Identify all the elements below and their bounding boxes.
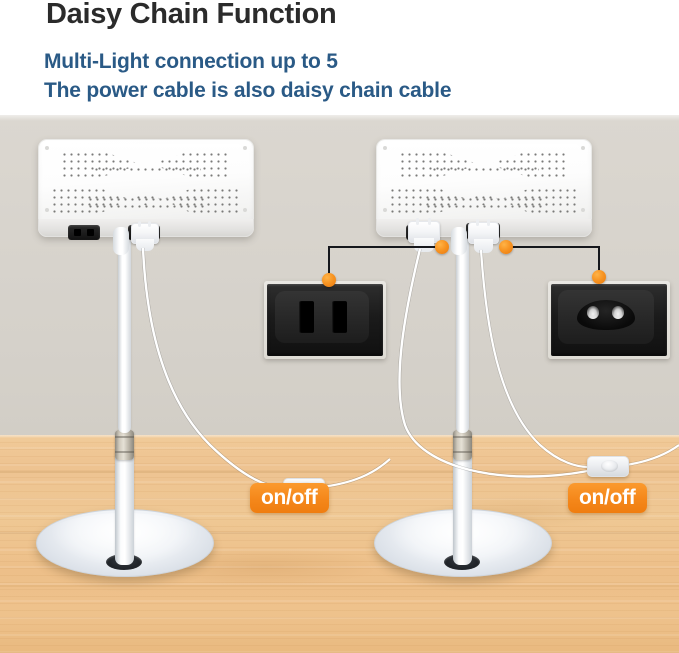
callout-socket-c7-figure-eight [548,281,670,359]
panel-corner-screw [45,146,49,150]
vent-hole-row [425,196,545,211]
socket-slot-line [299,301,314,333]
pole-upper-section [456,237,469,433]
callout-socket-nema-flat [264,281,386,359]
socket-recess-plate [275,291,369,343]
c7-contact-hole [587,306,599,319]
header-block: Daisy Chain Function Multi-Light connect… [0,0,679,115]
port-slot [87,229,94,236]
subtitle-line-2: The power cable is also daisy chain cabl… [44,79,451,103]
plug-prong [487,219,490,226]
plug-prong [138,221,141,227]
switch-right[interactable] [587,456,629,477]
c7-cutout-shape [577,300,635,330]
wood-grain-line [0,585,679,587]
callout-leader-horizontal [505,246,600,248]
panel-corner-screw [243,146,247,150]
lamp-left-output-plug[interactable] [131,223,159,244]
socket-slot-line [332,301,347,333]
plug-strain-relief [136,239,154,251]
lamp-right-output-plug[interactable] [468,222,499,244]
lamp-right-input-plug[interactable] [408,221,440,243]
pole-lower-section [453,447,472,565]
product-scene: on/off on/off [0,115,679,653]
vent-hole-row [93,166,201,174]
product-infographic: Daisy Chain Function Multi-Light connect… [0,0,679,653]
callout-marker-dot-socket [322,273,336,287]
pole-upper-section [118,237,131,433]
panel-mount-stem [451,227,467,255]
plug-prong [428,218,431,225]
lamp-left-power-input-port[interactable] [68,225,100,240]
c7-contact-hole [612,306,624,319]
badge-onoff-left: on/off [250,483,329,513]
pole-lower-section [115,447,134,565]
plug-strain-relief [414,238,434,252]
callout-marker-dot-socket [592,270,606,284]
wood-grain-line [0,471,679,473]
panel-corner-screw [383,208,387,212]
collar-ring [115,451,134,453]
socket-face [267,284,383,356]
socket-face [551,284,667,356]
callout-leader-horizontal [328,246,441,248]
pole-height-adjust-collar[interactable] [115,430,134,460]
callout-marker-dot-lamp-port [499,240,513,254]
subtitle-line-1: Multi-Light connection up to 5 [44,50,338,74]
badge-onoff-right: on/off [568,483,647,513]
plug-strain-relief [474,239,493,253]
callout-marker-dot-lamp-port [435,240,449,254]
vent-hole-row [87,196,207,211]
panel-corner-screw [45,208,49,212]
plug-prong [476,219,479,226]
collar-ring [453,451,472,453]
panel-mount-stem [113,227,129,255]
plug-prong [148,221,151,227]
table-edge [0,435,679,438]
page-title: Daisy Chain Function [46,0,336,31]
panel-corner-screw [243,208,247,212]
vent-hole-row [431,166,539,174]
rocker-button[interactable] [601,460,618,472]
collar-ring [453,436,472,438]
panel-corner-screw [581,208,585,212]
panel-corner-screw [581,146,585,150]
collar-ring [115,436,134,438]
pole-height-adjust-collar[interactable] [453,430,472,460]
port-slot [74,229,81,236]
plug-prong [416,218,419,225]
panel-corner-screw [383,146,387,150]
